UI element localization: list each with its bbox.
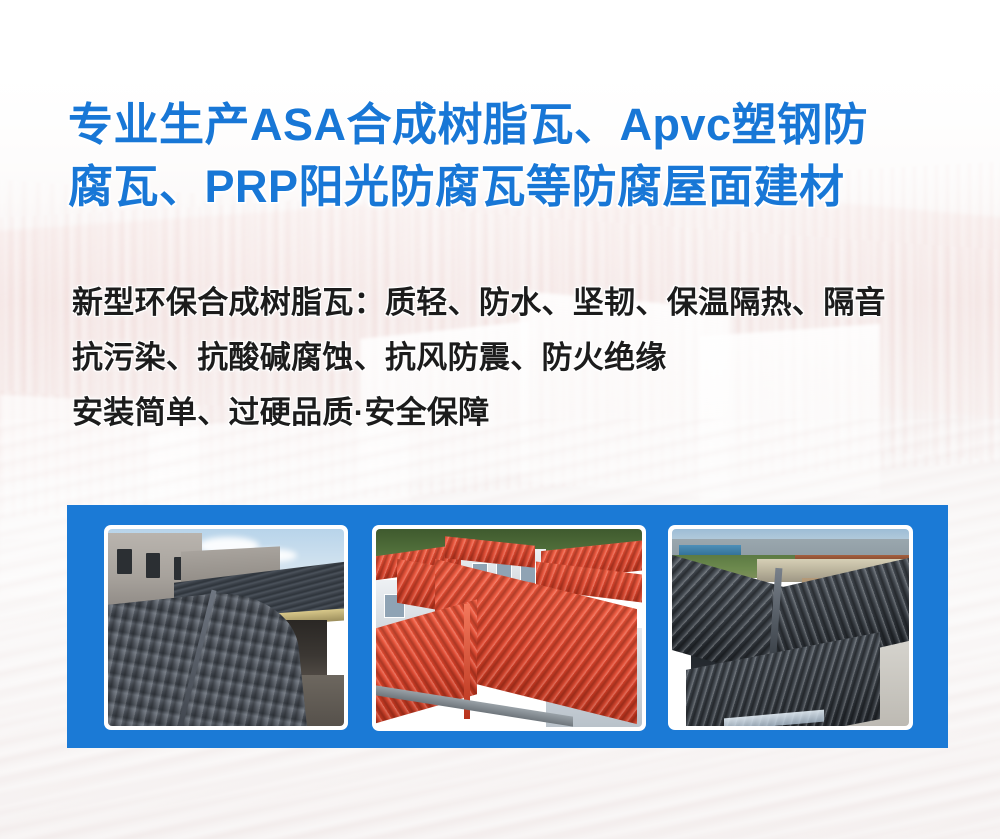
banner-content: 专业生产ASA合成树脂瓦、Apvc塑钢防 腐瓦、PRP阳光防腐瓦等防腐屋面建材 … [0,0,1000,839]
product-promo-banner: 专业生产ASA合成树脂瓦、Apvc塑钢防 腐瓦、PRP阳光防腐瓦等防腐屋面建材 … [0,0,1000,839]
photo-1-window-a [117,549,131,575]
gallery-photo-2[interactable] [372,525,646,731]
subheadline-line-2: 抗污染、抗酸碱腐蚀、抗风防震、防火绝缘 [72,330,972,385]
product-photo-gallery [67,505,948,748]
photo-3-image [672,529,909,726]
photo-2-image [376,529,642,727]
gallery-photo-3[interactable] [668,525,913,730]
photo-1-window-b [146,553,160,579]
banner-headline: 专业生产ASA合成树脂瓦、Apvc塑钢防 腐瓦、PRP阳光防腐瓦等防腐屋面建材 [68,94,948,218]
headline-line-2: 腐瓦、PRP阳光防腐瓦等防腐屋面建材 [68,156,948,218]
subheadline-line-1: 新型环保合成树脂瓦：质轻、防水、坚韧、保温隔热、隔音 [72,275,972,330]
banner-subheadline: 新型环保合成树脂瓦：质轻、防水、坚韧、保温隔热、隔音 抗污染、抗酸碱腐蚀、抗风防… [72,275,972,440]
gallery-photo-1[interactable] [104,525,348,730]
photo-1-image [108,529,344,726]
headline-line-1: 专业生产ASA合成树脂瓦、Apvc塑钢防 [68,94,948,156]
subheadline-line-3: 安装简单、过硬品质·安全保障 [72,385,972,440]
